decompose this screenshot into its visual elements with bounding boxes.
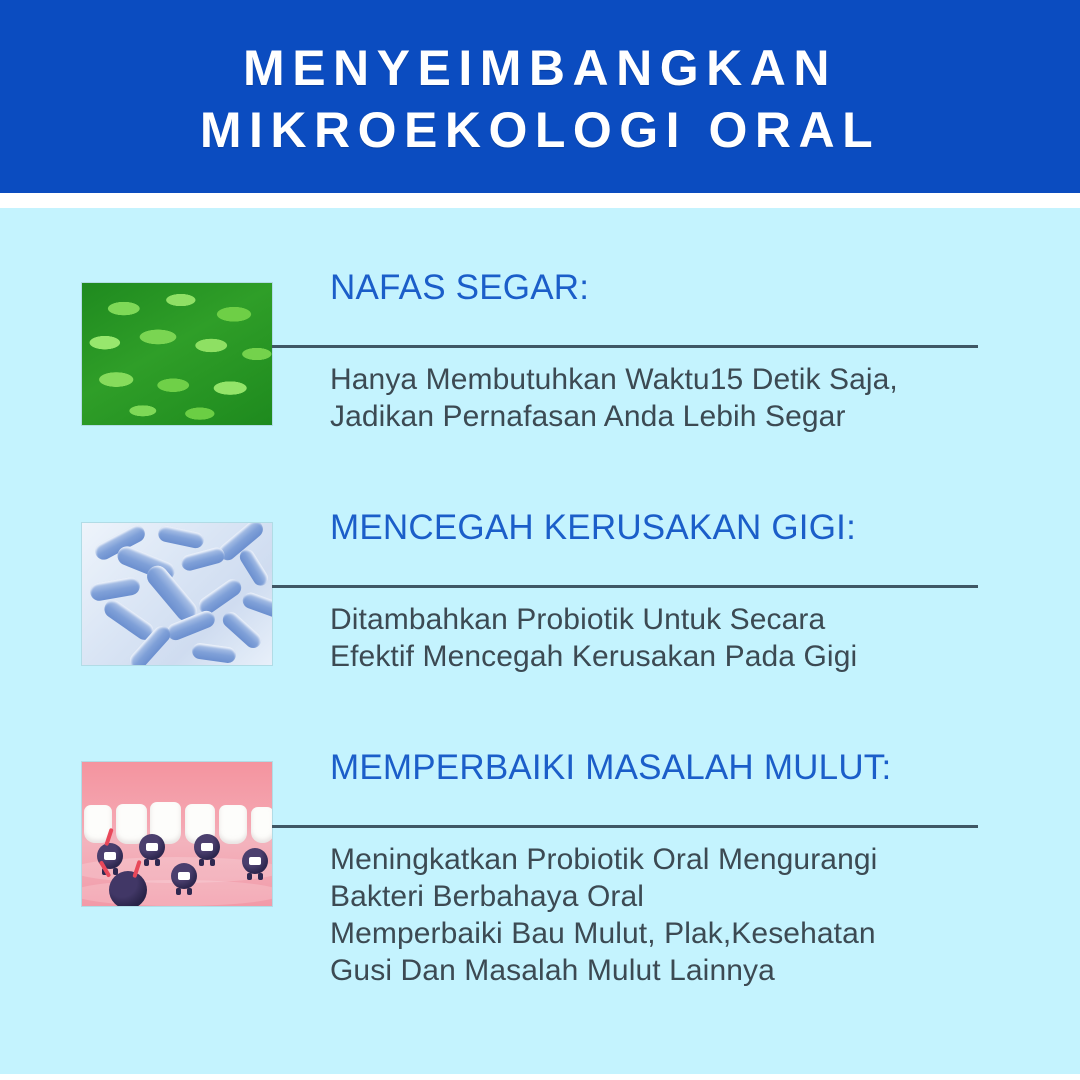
benefit-content-2: MENCEGAH KERUSAKAN GIGI: [330, 508, 1010, 548]
benefit-body-line: Jadikan Pernafasan Anda Lebih Segar [330, 398, 1030, 435]
benefit-heading-2: MENCEGAH KERUSAKAN GIGI: [330, 508, 1010, 548]
benefit-body-line: Meningkatkan Probiotik Oral Mengurangi [330, 841, 1030, 878]
benefit-heading-3: MEMPERBAIKI MASALAH MULUT: [330, 748, 1010, 788]
benefit-body-2: Ditambahkan Probiotik Untuk Secara Efekt… [330, 601, 1030, 675]
benefit-body-line: Ditambahkan Probiotik Untuk Secara [330, 601, 1030, 638]
header-title-line-2: MIKROEKOLOGI ORAL [200, 99, 880, 161]
benefit-body-line: Bakteri Berbahaya Oral [330, 878, 1030, 915]
benefit-image-blue-bacteria [82, 523, 272, 665]
benefit-list: NAFAS SEGAR: Hanya Membutuhkan Waktu15 D… [0, 208, 1080, 1074]
header-divider-gap [0, 193, 1080, 208]
infographic-poster: MENYEIMBANGKAN MIKROEKOLOGI ORAL NAFAS S… [0, 0, 1080, 1080]
benefit-divider-2 [272, 585, 978, 588]
leaves-pattern-icon [82, 283, 272, 425]
benefit-row-nafas-segar: NAFAS SEGAR: Hanya Membutuhkan Waktu15 D… [0, 268, 1080, 458]
header-title-line-1: MENYEIMBANGKAN [243, 37, 837, 99]
benefit-body-line: Efektif Mencegah Kerusakan Pada Gigi [330, 638, 1030, 675]
benefit-divider-1 [272, 345, 978, 348]
benefit-body-line: Memperbaiki Bau Mulut, Plak,Kesehatan [330, 915, 1030, 952]
benefit-image-green-leaves [82, 283, 272, 425]
bottom-white-strip [0, 1074, 1080, 1080]
benefit-body-line: Gusi Dan Masalah Mulut Lainnya [330, 952, 1030, 989]
benefit-row-mencegah-kerusakan-gigi: MENCEGAH KERUSAKAN GIGI: Ditambahkan Pro… [0, 508, 1080, 698]
benefit-row-memperbaiki-masalah-mulut: MEMPERBAIKI MASALAH MULUT: Meningkatkan … [0, 748, 1080, 998]
benefit-body-line: Hanya Membutuhkan Waktu15 Detik Saja, [330, 361, 1030, 398]
benefit-divider-3 [272, 825, 978, 828]
benefit-body-1: Hanya Membutuhkan Waktu15 Detik Saja, Ja… [330, 361, 1030, 435]
benefit-image-teeth-germs [82, 762, 272, 906]
benefit-heading-1: NAFAS SEGAR: [330, 268, 1010, 308]
teeth-and-germs-icon [82, 762, 272, 906]
benefit-content-3: MEMPERBAIKI MASALAH MULUT: [330, 748, 1010, 788]
benefit-body-3: Meningkatkan Probiotik Oral Mengurangi B… [330, 841, 1030, 989]
benefit-content-1: NAFAS SEGAR: [330, 268, 1010, 308]
header-banner: MENYEIMBANGKAN MIKROEKOLOGI ORAL [0, 0, 1080, 193]
bacteria-rods-icon [82, 523, 272, 665]
